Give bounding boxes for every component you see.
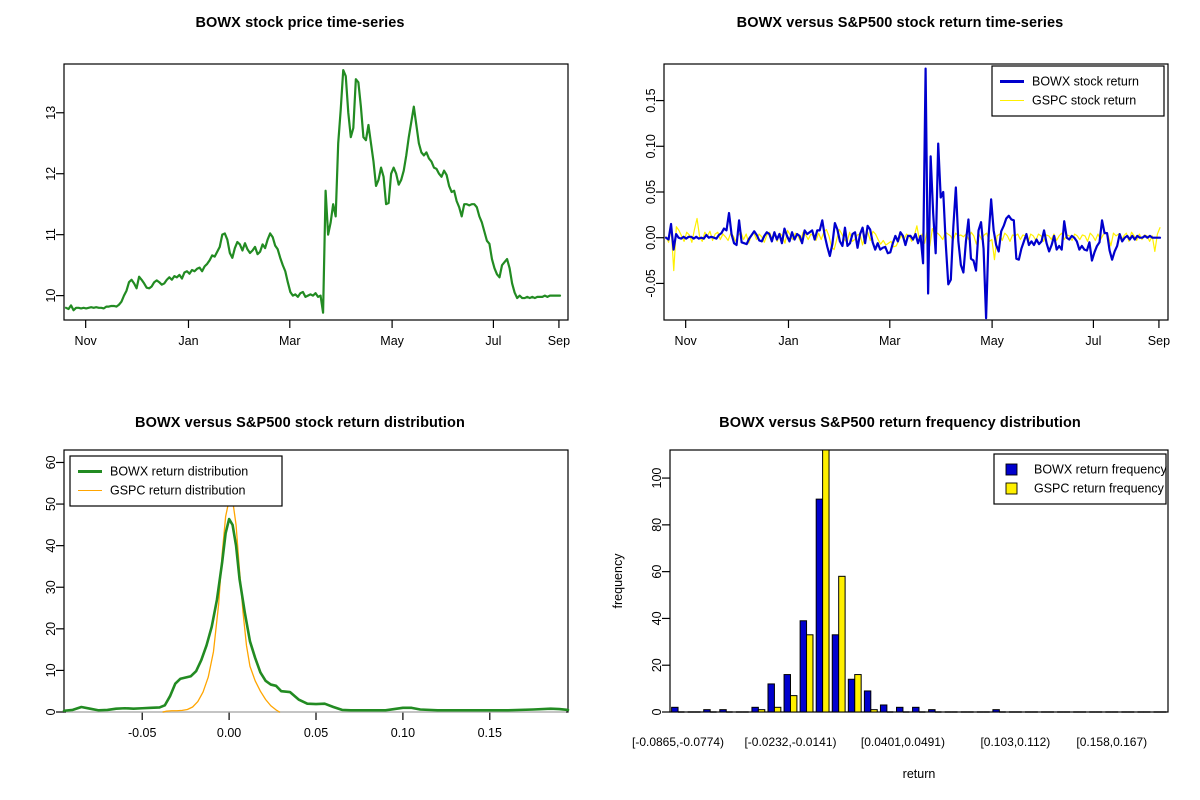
returns-y-tick-label: 0.15 [644,88,658,112]
price-chart: 10111213 NovJanMarMayJulSep [0,0,600,400]
density-y-tick-label: 0 [44,708,58,715]
returns-x-tick-label: Sep [1148,334,1170,348]
density-x-tick-label: 0.15 [478,726,502,740]
density-line-bowx [64,519,568,711]
histogram-bar [839,576,845,712]
density-y-axis: 0102030405060 [44,455,64,715]
histogram-bar [720,710,726,712]
density-legend-box [70,456,282,506]
density-y-tick-label: 30 [44,580,58,594]
returns-chart: -0.050.000.050.100.15 NovJanMarMayJulSep… [600,0,1200,400]
panel-histogram: BOWX versus S&P500 return frequency dist… [600,400,1200,800]
density-legend: BOWX return distributionGSPC return dist… [70,456,282,506]
density-y-tick-label: 10 [44,663,58,677]
returns-x-tick-label: Jul [1085,334,1101,348]
price-x-tick-label: Sep [548,334,570,348]
price-y-tick-label: 12 [44,167,58,181]
density-legend-label: BOWX return distribution [110,465,248,479]
returns-x-axis: NovJanMarMayJulSep [675,320,1171,348]
hist-legend-swatch [1006,464,1017,475]
returns-x-tick-label: Jan [778,334,798,348]
hist-legend-label: GSPC return frequency [1034,482,1165,496]
returns-x-tick-label: Mar [879,334,901,348]
price-line-bowx [66,70,560,313]
hist-y-tick-label: 80 [650,518,664,532]
price-y-tick-label: 13 [44,106,58,120]
density-x-tick-label: 0.10 [391,726,415,740]
density-x-tick-label: 0.00 [217,726,241,740]
histogram-bar [855,675,861,712]
histogram-x-axis-label: return [903,767,936,781]
density-y-tick-label: 20 [44,622,58,636]
histogram-bar [864,691,870,712]
histogram-bar [993,710,999,712]
returns-legend: BOWX stock returnGSPC stock return [992,66,1164,116]
price-x-tick-label: Nov [75,334,98,348]
returns-y-tick-label: 0.05 [644,180,658,204]
histogram-bar [816,499,822,712]
hist-y-tick-label: 0 [650,708,664,715]
price-y-tick-label: 10 [44,289,58,303]
histogram-bar [880,705,886,712]
histogram-bar [774,707,780,712]
hist-y-tick-label: 60 [650,565,664,579]
histogram-bar [784,675,790,712]
histogram-legend: BOWX return frequencyGSPC return frequen… [994,454,1167,504]
histogram-bar [768,684,774,712]
returns-y-axis: -0.050.000.050.100.15 [644,88,664,297]
price-plot-box [64,64,568,320]
density-chart: 0102030405060 -0.050.000.050.100.15 BOWX… [0,400,600,800]
histogram-bar [758,710,764,712]
density-y-tick-label: 60 [44,455,58,469]
histogram-y-axis-label: frequency [611,553,625,609]
density-legend-label: GSPC return distribution [110,484,246,498]
density-y-tick-label: 40 [44,539,58,553]
histogram-bin-label: [0.103,0.112) [980,735,1050,749]
price-x-tick-label: Jul [485,334,501,348]
price-x-tick-label: May [380,334,404,348]
histogram-bar [913,707,919,712]
histogram-bar [823,450,829,712]
histogram-bin-label: [-0.0865,-0.0774) [632,735,724,749]
density-x-tick-label: -0.05 [128,726,157,740]
price-y-tick-label: 11 [44,228,58,241]
histogram-bin-label: [0.0401,0.0491) [861,735,945,749]
density-series-group [64,500,568,712]
histogram-bin-label: [0.158,0.167) [1076,735,1147,749]
density-x-tick-label: 0.05 [304,726,328,740]
histogram-bar [704,710,710,712]
returns-legend-label: GSPC stock return [1032,94,1136,108]
density-y-tick-label: 50 [44,497,58,511]
histogram-bar [672,707,678,712]
histogram-y-axis: 020406080100 [650,468,670,716]
returns-x-tick-label: May [980,334,1004,348]
histogram-bar [871,710,877,712]
hist-legend-swatch [1006,483,1017,494]
histogram-bar [800,621,806,712]
price-series-group [66,70,560,313]
panel-returns: BOWX versus S&P500 stock return time-ser… [600,0,1200,400]
returns-legend-label: BOWX stock return [1032,75,1139,89]
hist-legend-box [994,454,1166,504]
panel-density: BOWX versus S&P500 stock return distribu… [0,400,600,800]
histogram-chart: 020406080100 frequency [-0.0865,-0.0774)… [600,400,1200,800]
histogram-bar [790,696,796,712]
hist-y-tick-label: 100 [650,468,664,489]
histogram-bar [807,635,813,712]
histogram-bin-label: [-0.0232,-0.0141) [744,735,836,749]
returns-y-tick-label: -0.05 [644,269,658,298]
histogram-bar [929,710,935,712]
histogram-x-axis: [-0.0865,-0.0774)[-0.0232,-0.0141)[0.040… [632,735,1147,749]
returns-legend-box [992,66,1164,116]
density-x-axis: -0.050.000.050.100.15 [128,712,502,740]
price-x-axis: NovJanMarMayJulSep [75,320,571,348]
histogram-bar [897,707,903,712]
figure-grid: BOWX stock price time-series 10111213 No… [0,0,1200,800]
histogram-bar [752,707,758,712]
hist-y-tick-label: 20 [650,658,664,672]
price-x-tick-label: Jan [178,334,198,348]
hist-y-tick-label: 40 [650,611,664,625]
returns-y-tick-label: 0.10 [644,134,658,158]
price-y-axis: 10111213 [44,106,64,303]
hist-legend-label: BOWX return frequency [1034,463,1167,477]
histogram-bar [848,679,854,712]
returns-y-tick-label: 0.00 [644,226,658,250]
price-x-tick-label: Mar [279,334,301,348]
panel-price: BOWX stock price time-series 10111213 No… [0,0,600,400]
histogram-bar [832,635,838,712]
returns-x-tick-label: Nov [675,334,698,348]
